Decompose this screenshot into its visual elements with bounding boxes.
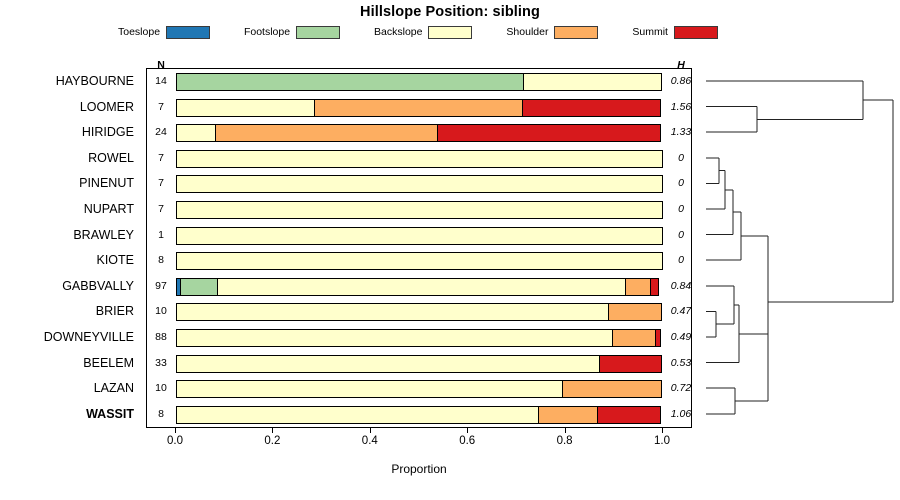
legend-item-shoulder: Shoulder xyxy=(506,26,598,39)
bar-downeyville xyxy=(176,329,663,347)
bar-loomer xyxy=(176,99,663,117)
bar-segment-summit xyxy=(655,329,661,347)
bar-segment-backslope xyxy=(176,150,663,168)
n-column-header: N xyxy=(146,59,176,71)
bar-beelem xyxy=(176,355,663,373)
bar-segment-shoulder xyxy=(314,99,522,117)
bar-segment-backslope xyxy=(176,380,563,398)
n-value: 8 xyxy=(146,408,176,420)
n-value: 97 xyxy=(146,280,176,292)
n-value: 33 xyxy=(146,357,176,369)
bar-segment-footslope xyxy=(176,73,524,91)
bar-segment-backslope xyxy=(217,278,626,296)
x-axis: 0.00.20.40.60.81.0 xyxy=(146,428,692,458)
h-value: 0 xyxy=(663,177,699,189)
x-axis-tick-label: 0.8 xyxy=(557,435,573,447)
y-axis-label-hiridge: HIRIDGE xyxy=(0,125,140,139)
y-axis-label-haybourne: HAYBOURNE xyxy=(0,74,140,88)
bar-segment-shoulder xyxy=(612,329,656,347)
y-axis-label-wassit: WASSIT xyxy=(0,407,140,421)
legend-swatch-icon xyxy=(554,26,598,39)
h-value: 0.72 xyxy=(663,382,699,394)
x-axis-tick-label: 0.2 xyxy=(264,435,280,447)
bar-segment-backslope xyxy=(176,406,539,424)
y-axis-label-brier: BRIER xyxy=(0,304,140,318)
bar-segment-backslope xyxy=(176,355,600,373)
bar-segment-summit xyxy=(650,278,659,296)
legend-item-toeslope: Toeslope xyxy=(118,26,210,39)
bar-segment-summit xyxy=(597,406,661,424)
y-axis-label-lazan: LAZAN xyxy=(0,381,140,395)
bar-segment-shoulder xyxy=(608,303,662,321)
legend-label: Toeslope xyxy=(118,26,160,38)
y-axis-label-nupart: NUPART xyxy=(0,202,140,216)
y-axis-label-gabbvally: GABBVALLY xyxy=(0,279,140,293)
bar-segment-shoulder xyxy=(562,380,662,398)
plot-panel xyxy=(146,68,692,428)
bar-segment-backslope xyxy=(523,73,662,91)
bar-haybourne xyxy=(176,73,663,91)
x-axis-tick xyxy=(272,428,273,433)
h-value: 0.47 xyxy=(663,305,699,317)
dendrogram xyxy=(700,68,900,428)
bar-brawley xyxy=(176,227,663,245)
h-value: 1.56 xyxy=(663,101,699,113)
h-value: 0.84 xyxy=(663,280,699,292)
chart-root: Hillslope Position: sibling ToeslopeFoot… xyxy=(0,0,900,500)
h-value: 0 xyxy=(663,203,699,215)
n-value: 24 xyxy=(146,126,176,138)
legend-swatch-icon xyxy=(428,26,472,39)
bar-nupart xyxy=(176,201,663,219)
h-value: 1.33 xyxy=(663,126,699,138)
y-axis-label-brawley: BRAWLEY xyxy=(0,228,140,242)
h-value: 0 xyxy=(663,254,699,266)
legend-swatch-icon xyxy=(166,26,210,39)
y-axis-label-loomer: LOOMER xyxy=(0,100,140,114)
chart-legend: ToeslopeFootslopeBackslopeShoulderSummit xyxy=(118,24,718,40)
y-axis-label-kiote: KIOTE xyxy=(0,253,140,267)
legend-label: Shoulder xyxy=(506,26,548,38)
x-axis-tick-label: 0.0 xyxy=(167,435,183,447)
y-axis-label-beelem: BEELEM xyxy=(0,356,140,370)
h-value: 0 xyxy=(663,152,699,164)
y-axis-label-rowel: ROWEL xyxy=(0,151,140,165)
dendrogram-svg xyxy=(700,68,900,428)
bar-segment-shoulder xyxy=(625,278,651,296)
n-value: 7 xyxy=(146,101,176,113)
legend-item-backslope: Backslope xyxy=(374,26,472,39)
x-axis-tick xyxy=(662,428,663,433)
x-axis-tick-label: 0.6 xyxy=(459,435,475,447)
bar-brier xyxy=(176,303,663,321)
n-value: 10 xyxy=(146,305,176,317)
bar-wassit xyxy=(176,406,663,424)
h-column-header: H xyxy=(663,59,699,71)
h-value: 0.53 xyxy=(663,357,699,369)
bar-segment-backslope xyxy=(176,99,315,117)
bar-segment-backslope xyxy=(176,252,663,270)
bar-segment-shoulder xyxy=(215,124,438,142)
bar-kiote xyxy=(176,252,663,270)
chart-title: Hillslope Position: sibling xyxy=(0,4,900,20)
bar-segment-summit xyxy=(522,99,661,117)
legend-label: Backslope xyxy=(374,26,422,38)
n-value: 7 xyxy=(146,177,176,189)
bar-segment-backslope xyxy=(176,124,216,142)
bar-rowel xyxy=(176,150,663,168)
bar-pinenut xyxy=(176,175,663,193)
bar-segment-shoulder xyxy=(538,406,598,424)
n-value: 1 xyxy=(146,229,176,241)
bar-segment-summit xyxy=(437,124,661,142)
x-axis-tick-label: 1.0 xyxy=(654,435,670,447)
n-value: 8 xyxy=(146,254,176,266)
y-axis-label-downeyville: DOWNEYVILLE xyxy=(0,330,140,344)
stacked-bars xyxy=(147,69,693,429)
bar-lazan xyxy=(176,380,663,398)
bar-segment-backslope xyxy=(176,329,613,347)
bar-hiridge xyxy=(176,124,663,142)
x-axis-label: Proportion xyxy=(146,462,692,476)
bar-segment-backslope xyxy=(176,303,609,321)
x-axis-tick-label: 0.4 xyxy=(362,435,378,447)
legend-label: Summit xyxy=(632,26,668,38)
x-axis-tick xyxy=(175,428,176,433)
bar-segment-summit xyxy=(599,355,662,373)
legend-item-summit: Summit xyxy=(632,26,718,39)
legend-item-footslope: Footslope xyxy=(244,26,340,39)
h-column: H0.861.561.33000000.840.470.490.530.721.… xyxy=(663,68,703,428)
legend-swatch-icon xyxy=(296,26,340,39)
bar-segment-backslope xyxy=(176,227,663,245)
n-value: 10 xyxy=(146,382,176,394)
h-value: 0.86 xyxy=(663,75,699,87)
n-column: N147247771897108833108 xyxy=(146,68,176,428)
bar-segment-backslope xyxy=(176,175,663,193)
bar-segment-backslope xyxy=(176,201,663,219)
bar-gabbvally xyxy=(176,278,663,296)
legend-label: Footslope xyxy=(244,26,290,38)
x-axis-tick xyxy=(370,428,371,433)
n-value: 88 xyxy=(146,331,176,343)
h-value: 1.06 xyxy=(663,408,699,420)
x-axis-tick xyxy=(467,428,468,433)
n-value: 14 xyxy=(146,75,176,87)
y-axis-labels: HAYBOURNELOOMERHIRIDGEROWELPINENUTNUPART… xyxy=(0,68,140,428)
bar-segment-footslope xyxy=(180,278,218,296)
y-axis-label-pinenut: PINENUT xyxy=(0,176,140,190)
legend-swatch-icon xyxy=(674,26,718,39)
x-axis-tick xyxy=(565,428,566,433)
n-value: 7 xyxy=(146,203,176,215)
h-value: 0.49 xyxy=(663,331,699,343)
h-value: 0 xyxy=(663,229,699,241)
n-value: 7 xyxy=(146,152,176,164)
